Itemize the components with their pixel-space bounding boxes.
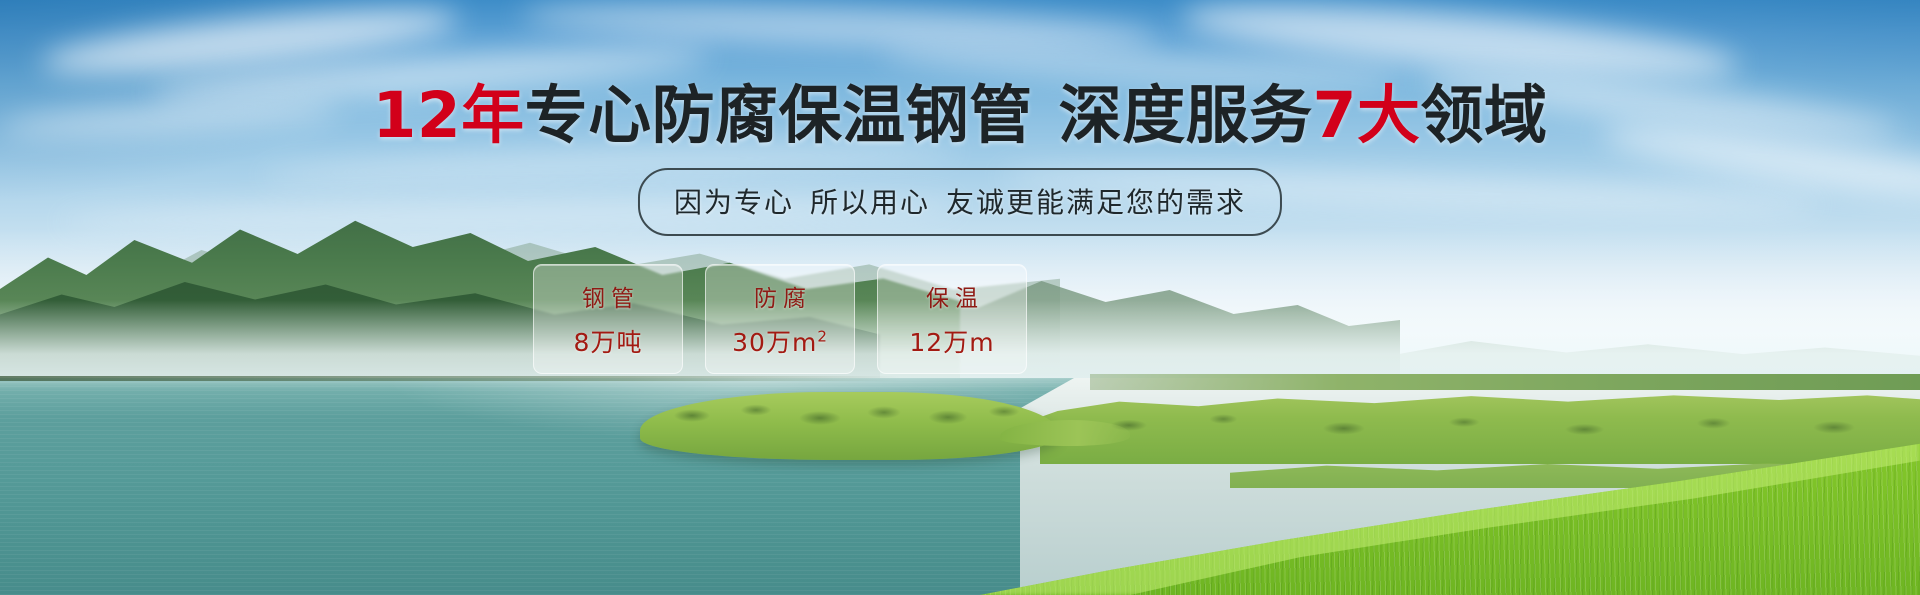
far-shore-strip	[1090, 374, 1920, 390]
stat-card-anticorrosion[interactable]: 防腐 30万m2	[705, 264, 855, 374]
stat-card-group: 钢管 8万吨 防腐 30万m2 保温 12万m	[533, 264, 1027, 374]
stat-value-text: 30万m	[732, 328, 817, 357]
headline-main: 专心防腐保温钢管	[525, 79, 1033, 152]
stat-card-steel-pipe[interactable]: 钢管 8万吨	[533, 264, 683, 374]
stat-label: 防腐	[748, 279, 812, 313]
subtitle-part-1: 因为专心	[674, 186, 794, 219]
stat-card-insulation[interactable]: 保温 12万m	[877, 264, 1027, 374]
stat-value-superscript: 2	[817, 328, 828, 346]
banner-subtitle: 因为专心所以用心友诚更能满足您的需求	[638, 168, 1282, 236]
subtitle-part-3: 友诚更能满足您的需求	[946, 186, 1246, 219]
shoreline	[0, 376, 900, 381]
marsh-vegetation	[1060, 392, 1920, 444]
headline-seven: 7大	[1313, 79, 1421, 152]
stat-label: 钢管	[576, 279, 640, 313]
stat-value-text: 12万m	[909, 328, 994, 357]
banner-headline: 12年专心防腐保温钢管深度服务7大领域	[0, 84, 1920, 147]
stat-value: 12万m	[909, 323, 994, 359]
subtitle-part-2: 所以用心	[810, 186, 930, 219]
stat-value: 30万m2	[732, 323, 828, 359]
island-vegetation	[652, 394, 1052, 434]
headline-service: 深度服务	[1059, 79, 1313, 152]
stat-label: 保温	[920, 279, 984, 313]
headline-fields: 领域	[1421, 79, 1548, 152]
headline-years: 12年	[372, 79, 524, 152]
hero-banner: 12年专心防腐保温钢管深度服务7大领域 因为专心所以用心友诚更能满足您的需求 钢…	[0, 0, 1920, 595]
stat-value: 8万吨	[574, 323, 643, 359]
stat-value-text: 8万吨	[574, 328, 643, 357]
